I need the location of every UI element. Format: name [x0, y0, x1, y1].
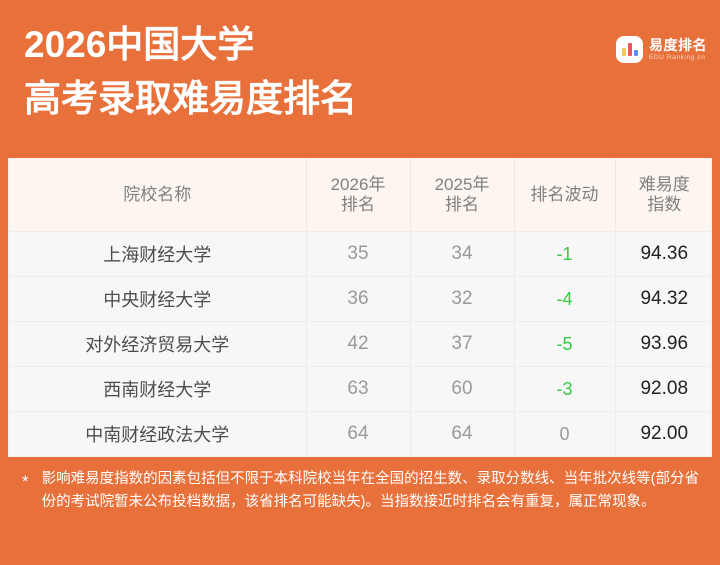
column-header-rank-2025[interactable]: 2025年 排名	[410, 159, 514, 232]
table-row[interactable]: 上海财经大学 35 34 -1 94.36	[9, 232, 712, 277]
table-row[interactable]: 西南财经大学 63 60 -3 92.08	[9, 367, 712, 412]
ranking-table: 院校名称 2026年 排名 2025年 排名 排名波动 难易度 指数	[9, 159, 712, 456]
column-header-rank-2025-label-2: 排名	[411, 195, 514, 215]
cell-school-name: 西南财经大学	[9, 367, 306, 412]
table-header-row: 院校名称 2026年 排名 2025年 排名 排名波动 难易度 指数	[9, 159, 712, 232]
cell-school-name: 中南财经政法大学	[9, 412, 306, 457]
column-header-rank-change-label-1: 排名波动	[531, 185, 599, 204]
cell-rank-2025: 60	[410, 367, 514, 412]
footnote-text: 影响难易度指数的因素包括但不限于本科院校当年在全国的招生数、录取分数线、当年批次…	[42, 468, 700, 515]
cell-rank-2026: 35	[306, 232, 410, 277]
cell-difficulty-index: 93.96	[615, 322, 712, 367]
brand-name-cn: 易度排名	[649, 38, 707, 52]
table-row[interactable]: 中南财经政法大学 64 64 0 92.00	[9, 412, 712, 457]
page-title: 2026中国大学 高考录取难易度排名	[24, 22, 357, 121]
table-row[interactable]: 中央财经大学 36 32 -4 94.32	[9, 277, 712, 322]
title-line-primary: 2026中国大学	[24, 22, 357, 67]
cell-rank-change: 0	[514, 412, 615, 457]
brand-logo[interactable]: 易度排名 EDU Ranking.cn	[616, 36, 707, 63]
column-header-rank-2026-label-1: 2026年	[331, 175, 386, 194]
cell-rank-change: -4	[514, 277, 615, 322]
footnote-marker: *	[22, 468, 29, 490]
bar-chart-icon	[616, 36, 643, 63]
cell-difficulty-index: 92.00	[615, 412, 712, 457]
ranking-table-container: 易度排名 EDU Ranking 院校名称 2026年 排名 2025年 排名	[8, 158, 712, 457]
cell-school-name: 中央财经大学	[9, 277, 306, 322]
column-header-school-name-label-1: 院校名称	[123, 185, 191, 204]
column-header-rank-change[interactable]: 排名波动	[514, 159, 615, 232]
cell-rank-2026: 64	[306, 412, 410, 457]
brand-name-en: EDU Ranking.cn	[649, 55, 707, 62]
cell-rank-2025: 32	[410, 277, 514, 322]
cell-rank-change: -3	[514, 367, 615, 412]
bar-chart-icon-bar-blue	[634, 50, 638, 56]
cell-rank-2025: 37	[410, 322, 514, 367]
bar-chart-icon-bar-red	[628, 43, 632, 56]
cell-difficulty-index: 92.08	[615, 367, 712, 412]
cell-rank-2026: 36	[306, 277, 410, 322]
cell-rank-2025: 64	[410, 412, 514, 457]
column-header-rank-2026-label-2: 排名	[307, 195, 410, 215]
cell-school-name: 上海财经大学	[9, 232, 306, 277]
cell-rank-change: -5	[514, 322, 615, 367]
column-header-rank-2025-label-1: 2025年	[435, 175, 490, 194]
cell-school-name: 对外经济贸易大学	[9, 322, 306, 367]
column-header-rank-2026[interactable]: 2026年 排名	[306, 159, 410, 232]
cell-rank-2026: 63	[306, 367, 410, 412]
page-header: 2026中国大学 高考录取难易度排名 易度排名 EDU Ranking.cn	[0, 0, 720, 150]
column-header-difficulty-index-label-2: 指数	[616, 195, 713, 215]
cell-difficulty-index: 94.32	[615, 277, 712, 322]
column-header-difficulty-index[interactable]: 难易度 指数	[615, 159, 712, 232]
cell-rank-2026: 42	[306, 322, 410, 367]
column-header-school-name[interactable]: 院校名称	[9, 159, 306, 232]
column-header-difficulty-index-label-1: 难易度	[639, 175, 690, 194]
cell-difficulty-index: 94.36	[615, 232, 712, 277]
table-row[interactable]: 对外经济贸易大学 42 37 -5 93.96	[9, 322, 712, 367]
cell-rank-2025: 34	[410, 232, 514, 277]
brand-logo-text: 易度排名 EDU Ranking.cn	[649, 38, 707, 62]
footnote: * 影响难易度指数的因素包括但不限于本科院校当年在全国的招生数、录取分数线、当年…	[22, 468, 700, 515]
title-line-secondary: 高考录取难易度排名	[24, 76, 357, 121]
bar-chart-icon-bar-yellow	[622, 48, 626, 56]
cell-rank-change: -1	[514, 232, 615, 277]
